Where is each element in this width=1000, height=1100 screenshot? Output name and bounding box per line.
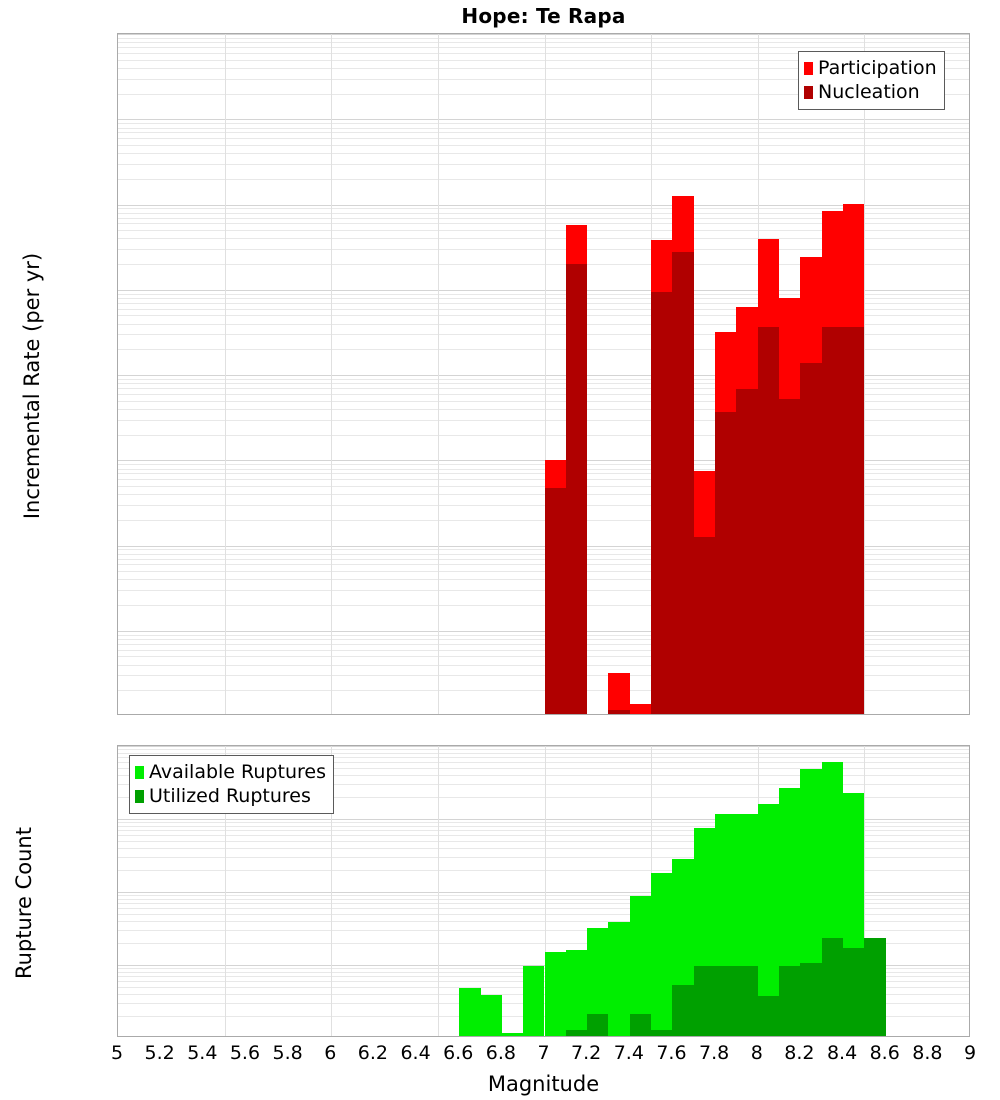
bar-6.65 bbox=[459, 988, 480, 1036]
available-ruptures-color-swatch bbox=[135, 766, 144, 779]
nucleation-bar-segment bbox=[672, 252, 693, 714]
top-plot-legend: Participation Nucleation bbox=[798, 51, 945, 110]
bar-7.55 bbox=[651, 240, 672, 714]
x-tick-label-7.8: 7.8 bbox=[699, 1042, 729, 1064]
utilized-ruptures-bar-segment bbox=[651, 1030, 672, 1036]
bar-8.25 bbox=[800, 769, 821, 1036]
bar-7.65 bbox=[672, 859, 693, 1036]
utilized-ruptures-bar-segment bbox=[566, 1030, 587, 1036]
utilized-ruptures-bar-segment bbox=[822, 938, 843, 1036]
bar-8.35 bbox=[822, 762, 843, 1036]
x-tick-label-8: 8 bbox=[751, 1042, 763, 1064]
x-tick-label-5.4: 5.4 bbox=[187, 1042, 217, 1064]
top-plot-y-axis-label: Incremental Rate (per yr) bbox=[20, 176, 44, 596]
x-tick-label-7.6: 7.6 bbox=[656, 1042, 686, 1064]
x-tick-label-6: 6 bbox=[324, 1042, 336, 1064]
bar-8.15 bbox=[779, 298, 800, 714]
available-ruptures-bar-segment bbox=[608, 922, 629, 1036]
x-tick-label-8.4: 8.4 bbox=[827, 1042, 857, 1064]
nucleation-bar-segment bbox=[800, 363, 821, 714]
nucleation-bar-segment bbox=[736, 389, 757, 714]
utilized-ruptures-bar-segment bbox=[715, 966, 736, 1036]
bar-8.55 bbox=[864, 938, 885, 1036]
available-ruptures-bar-segment bbox=[566, 950, 587, 1036]
bar-8.35 bbox=[822, 211, 843, 714]
bar-7.35 bbox=[608, 673, 629, 714]
bar-7.45 bbox=[630, 896, 651, 1036]
bar-8.15 bbox=[779, 788, 800, 1036]
nucleation-bar-segment bbox=[843, 327, 864, 714]
x-tick-label-6.6: 6.6 bbox=[443, 1042, 473, 1064]
available-ruptures-bar-segment bbox=[459, 988, 480, 1036]
figure-container: Hope: Te Rapa 10−210−310−410−510−610−710… bbox=[0, 0, 1000, 1100]
x-tick-label-6.8: 6.8 bbox=[486, 1042, 516, 1064]
legend-label-available-ruptures: Available Ruptures bbox=[149, 763, 326, 782]
bar-8.25 bbox=[800, 257, 821, 714]
legend-label-utilized-ruptures: Utilized Ruptures bbox=[149, 787, 311, 806]
x-tick-label-9: 9 bbox=[964, 1042, 976, 1064]
bar-7.05 bbox=[545, 952, 566, 1036]
utilized-ruptures-bar-segment bbox=[800, 963, 821, 1036]
available-ruptures-bar-segment bbox=[481, 995, 502, 1036]
bar-8.05 bbox=[758, 239, 779, 714]
legend-label-nucleation: Nucleation bbox=[818, 83, 920, 102]
bar-7.05 bbox=[545, 460, 566, 714]
nucleation-bar-segment bbox=[651, 292, 672, 714]
bottom-plot-legend: Available Ruptures Utilized Ruptures bbox=[129, 755, 334, 814]
nucleation-bar-segment bbox=[822, 327, 843, 714]
x-tick-label-7: 7 bbox=[537, 1042, 549, 1064]
nucleation-bar-segment bbox=[694, 537, 715, 714]
bar-7.15 bbox=[566, 950, 587, 1036]
utilized-ruptures-bar-segment bbox=[843, 948, 864, 1036]
participation-color-swatch bbox=[804, 62, 813, 75]
page-title: Hope: Te Rapa bbox=[117, 4, 970, 28]
utilized-ruptures-bar-segment bbox=[779, 966, 800, 1036]
utilized-ruptures-bar-segment bbox=[587, 1014, 608, 1036]
nucleation-bar-segment bbox=[545, 488, 566, 714]
x-tick-label-8.8: 8.8 bbox=[912, 1042, 942, 1064]
x-tick-label-7.2: 7.2 bbox=[571, 1042, 601, 1064]
bar-7.25 bbox=[587, 928, 608, 1036]
bar-7.15 bbox=[566, 225, 587, 714]
utilized-ruptures-bar-segment bbox=[694, 966, 715, 1036]
top-plot-bars bbox=[118, 34, 969, 714]
nucleation-color-swatch bbox=[804, 86, 813, 99]
bar-7.75 bbox=[694, 471, 715, 714]
bar-7.95 bbox=[736, 814, 757, 1036]
x-axis-label: Magnitude bbox=[117, 1072, 970, 1096]
legend-item-participation: Participation bbox=[804, 56, 937, 80]
utilized-ruptures-bar-segment bbox=[864, 938, 885, 1036]
bar-8.45 bbox=[843, 793, 864, 1036]
bar-7.45 bbox=[630, 704, 651, 714]
legend-item-nucleation: Nucleation bbox=[804, 80, 937, 104]
x-tick-label-8.2: 8.2 bbox=[784, 1042, 814, 1064]
bar-6.85 bbox=[502, 1033, 523, 1036]
available-ruptures-bar-segment bbox=[523, 966, 544, 1036]
x-tick-label-5: 5 bbox=[111, 1042, 123, 1064]
available-ruptures-bar-segment bbox=[502, 1033, 523, 1036]
nucleation-bar-segment bbox=[715, 412, 736, 714]
bar-8.45 bbox=[843, 204, 864, 714]
available-ruptures-bar-segment bbox=[545, 952, 566, 1036]
utilized-ruptures-bar-segment bbox=[736, 966, 757, 1036]
bar-7.55 bbox=[651, 873, 672, 1036]
utilized-ruptures-bar-segment bbox=[630, 1014, 651, 1036]
x-tick-label-6.2: 6.2 bbox=[358, 1042, 388, 1064]
x-tick-label-7.4: 7.4 bbox=[614, 1042, 644, 1064]
legend-item-utilized-ruptures: Utilized Ruptures bbox=[135, 784, 326, 808]
bar-7.85 bbox=[715, 814, 736, 1036]
legend-label-participation: Participation bbox=[818, 59, 937, 78]
x-tick-label-8.6: 8.6 bbox=[870, 1042, 900, 1064]
bar-6.95 bbox=[523, 966, 544, 1036]
nucleation-bar-segment bbox=[758, 327, 779, 714]
bottom-plot-y-axis-label: Rupture Count bbox=[12, 803, 36, 1003]
bar-7.85 bbox=[715, 332, 736, 714]
utilized-ruptures-bar-segment bbox=[672, 985, 693, 1036]
bar-7.65 bbox=[672, 196, 693, 714]
bar-7.95 bbox=[736, 307, 757, 714]
x-tick-label-6.4: 6.4 bbox=[400, 1042, 430, 1064]
utilized-ruptures-bar-segment bbox=[758, 996, 779, 1036]
x-tick-label-5.6: 5.6 bbox=[230, 1042, 260, 1064]
incremental-rate-plot bbox=[117, 33, 970, 715]
utilized-ruptures-color-swatch bbox=[135, 790, 144, 803]
x-tick-label-5.8: 5.8 bbox=[272, 1042, 302, 1064]
available-ruptures-bar-segment bbox=[651, 873, 672, 1036]
x-tick-label-5.2: 5.2 bbox=[145, 1042, 175, 1064]
bar-6.75 bbox=[481, 995, 502, 1036]
bar-7.75 bbox=[694, 828, 715, 1036]
bar-7.35 bbox=[608, 922, 629, 1036]
participation-bar-segment bbox=[630, 704, 651, 714]
nucleation-bar-segment bbox=[608, 710, 629, 714]
nucleation-bar-segment bbox=[779, 399, 800, 714]
nucleation-bar-segment bbox=[566, 264, 587, 714]
legend-item-available-ruptures: Available Ruptures bbox=[135, 760, 326, 784]
participation-bar-segment bbox=[608, 673, 629, 714]
bar-8.05 bbox=[758, 804, 779, 1036]
